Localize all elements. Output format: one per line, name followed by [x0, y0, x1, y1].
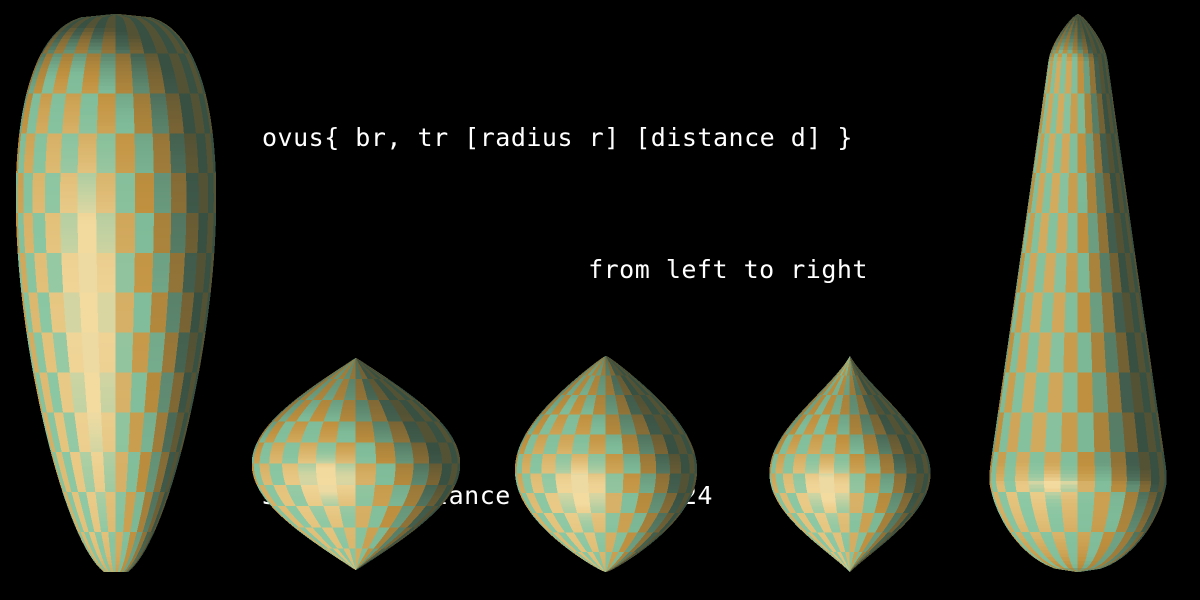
ovus-radius-700-distance-14-sturm [988, 14, 1168, 572]
povray-render-canvas: ovus{ br, tr [radius r] [distance d] } f… [0, 0, 1200, 600]
caption-header-line-2: from left to right [262, 248, 882, 292]
ovus-distance-14-radius-24 [16, 14, 216, 572]
ovus-radius-3p625-sphere [252, 358, 460, 570]
ovus-historic-version [506, 356, 706, 572]
ovus-radius-25 [756, 356, 944, 572]
caption-header-line-1: ovus{ br, tr [radius r] [distance d] } [262, 116, 882, 160]
